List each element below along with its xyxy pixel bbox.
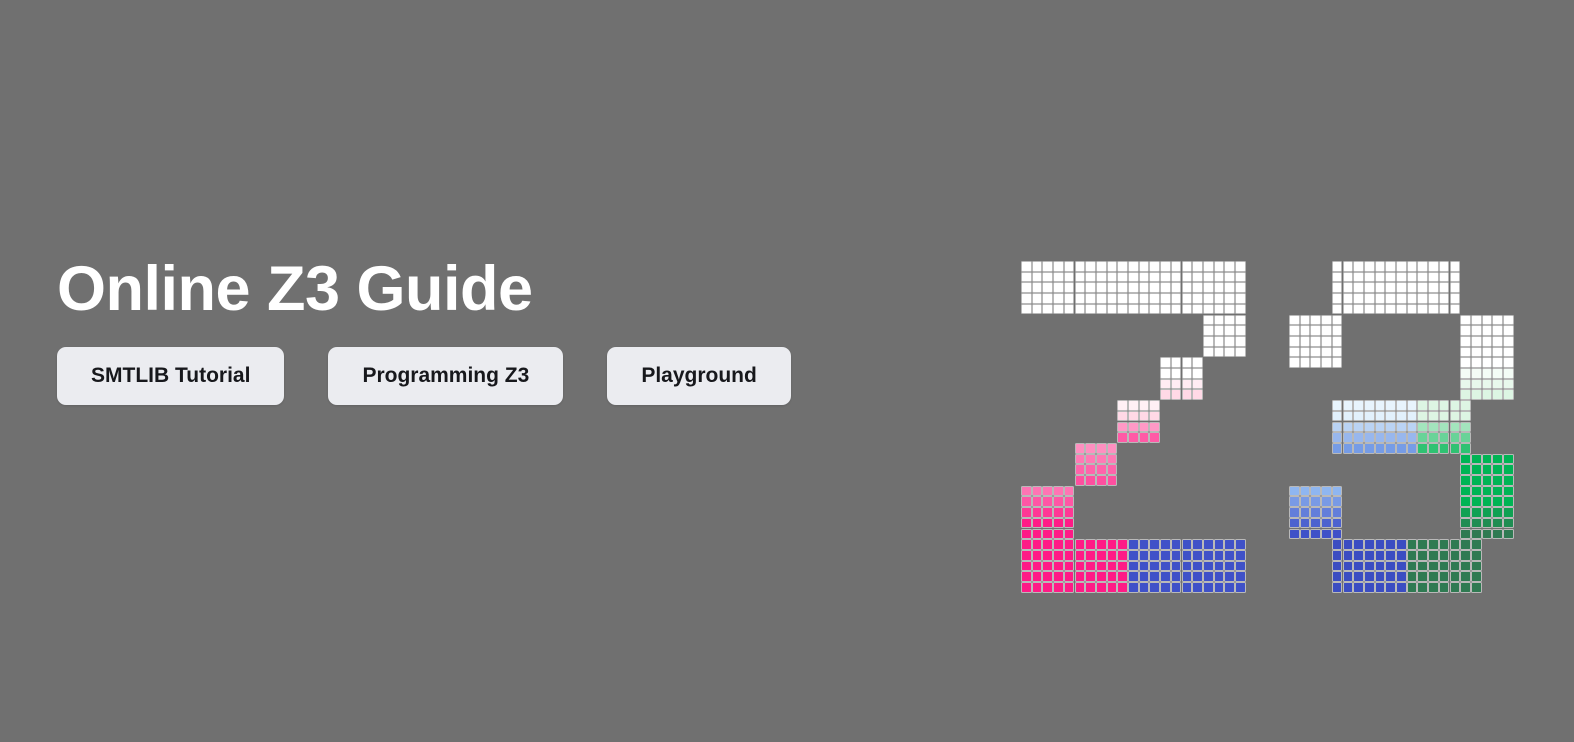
logo-pixel (1107, 293, 1118, 304)
logo-pixel (1332, 529, 1343, 540)
logo-pixel (1107, 539, 1118, 550)
logo-pixel (1492, 368, 1503, 379)
logo-pixel (1064, 496, 1075, 507)
logo-pixel (1364, 411, 1375, 422)
logo-pixel (1471, 389, 1482, 400)
logo-pixel (1353, 539, 1364, 550)
logo-pixel (1182, 389, 1193, 400)
logo-pixel (1482, 475, 1493, 486)
logo-pixel (1096, 443, 1107, 454)
logo-pixel (1471, 379, 1482, 390)
logo-pixel (1375, 293, 1386, 304)
logo-pixel (1235, 550, 1246, 561)
logo-pixel (1289, 529, 1300, 540)
logo-pixel (1053, 539, 1064, 550)
logo-pixel (1321, 529, 1332, 540)
logo-pixel (1471, 518, 1482, 529)
logo-pixel (1235, 272, 1246, 283)
logo-pixel (1310, 486, 1321, 497)
logo-pixel (1300, 325, 1311, 336)
logo-pixel (1032, 282, 1043, 293)
logo-pixel (1332, 325, 1343, 336)
cta-button-row: SMTLIB Tutorial Programming Z3 Playgroun… (57, 347, 957, 405)
logo-pixel (1428, 411, 1439, 422)
logo-pixel (1300, 347, 1311, 358)
logo-pixel (1439, 432, 1450, 443)
logo-pixel (1064, 539, 1075, 550)
logo-pixel (1364, 550, 1375, 561)
logo-pixel (1203, 347, 1214, 358)
logo-pixel (1214, 347, 1225, 358)
logo-pixel (1203, 261, 1214, 272)
logo-pixel (1117, 550, 1128, 561)
logo-pixel (1417, 261, 1428, 272)
logo-pixel (1107, 464, 1118, 475)
logo-pixel (1450, 272, 1461, 283)
logo-pixel (1085, 261, 1096, 272)
logo-pixel (1203, 315, 1214, 326)
logo-pixel (1042, 529, 1053, 540)
logo-pixel (1428, 261, 1439, 272)
logo-pixel (1460, 315, 1471, 326)
programming-z3-button[interactable]: Programming Z3 (328, 347, 563, 405)
logo-pixel (1450, 539, 1461, 550)
logo-pixel (1503, 336, 1514, 347)
logo-pixel (1021, 529, 1032, 540)
logo-pixel (1235, 582, 1246, 593)
logo-pixel (1203, 336, 1214, 347)
logo-pixel (1407, 539, 1418, 550)
logo-pixel (1503, 496, 1514, 507)
logo-pixel (1117, 539, 1128, 550)
logo-pixel (1075, 293, 1086, 304)
logo-pixel (1417, 571, 1428, 582)
logo-pixel (1343, 411, 1354, 422)
logo-pixel (1192, 379, 1203, 390)
logo-pixel (1482, 529, 1493, 540)
logo-pixel (1235, 571, 1246, 582)
logo-pixel (1396, 432, 1407, 443)
logo-pixel (1343, 400, 1354, 411)
logo-pixel (1085, 293, 1096, 304)
logo-pixel (1439, 582, 1450, 593)
logo-pixel (1032, 561, 1043, 572)
logo-pixel (1353, 261, 1364, 272)
logo-pixel (1353, 411, 1364, 422)
logo-pixel (1149, 293, 1160, 304)
logo-pixel (1353, 400, 1364, 411)
logo-pixel (1332, 486, 1343, 497)
logo-pixel (1117, 293, 1128, 304)
logo-pixel (1289, 325, 1300, 336)
logo-pixel (1224, 347, 1235, 358)
logo-pixel (1139, 571, 1150, 582)
logo-pixel (1224, 293, 1235, 304)
logo-pixel (1042, 496, 1053, 507)
logo-pixel (1471, 507, 1482, 518)
logo-pixel (1224, 315, 1235, 326)
logo-pixel (1128, 293, 1139, 304)
logo-pixel (1396, 582, 1407, 593)
logo-pixel (1096, 282, 1107, 293)
logo-pixel (1417, 282, 1428, 293)
smtlib-tutorial-button[interactable]: SMTLIB Tutorial (57, 347, 284, 405)
logo-pixel (1224, 550, 1235, 561)
logo-pixel (1192, 272, 1203, 283)
logo-pixel (1171, 293, 1182, 304)
logo-pixel (1332, 336, 1343, 347)
logo-pixel (1203, 272, 1214, 283)
logo-pixel (1214, 261, 1225, 272)
logo-pixel (1032, 529, 1043, 540)
logo-pixel (1053, 293, 1064, 304)
logo-pixel (1171, 550, 1182, 561)
logo-pixel (1192, 261, 1203, 272)
logo-pixel (1053, 507, 1064, 518)
logo-pixel (1364, 261, 1375, 272)
logo-pixel (1353, 293, 1364, 304)
logo-pixel (1128, 571, 1139, 582)
logo-pixel (1214, 571, 1225, 582)
logo-pixel (1310, 518, 1321, 529)
logo-pixel (1128, 411, 1139, 422)
logo-pixel (1482, 454, 1493, 465)
logo-pixel (1396, 561, 1407, 572)
logo-pixel (1042, 539, 1053, 550)
logo-pixel (1460, 389, 1471, 400)
logo-pixel (1171, 379, 1182, 390)
logo-pixel (1332, 293, 1343, 304)
logo-pixel (1224, 582, 1235, 593)
logo-pixel (1021, 518, 1032, 529)
logo-pixel (1482, 368, 1493, 379)
logo-pixel (1139, 304, 1150, 315)
logo-pixel (1375, 571, 1386, 582)
logo-pixel (1482, 325, 1493, 336)
logo-pixel (1332, 432, 1343, 443)
logo-pixel (1107, 272, 1118, 283)
logo-pixel (1407, 571, 1418, 582)
logo-pixel (1460, 529, 1471, 540)
logo-pixel (1396, 261, 1407, 272)
logo-pixel (1053, 496, 1064, 507)
logo-pixel (1117, 261, 1128, 272)
logo-pixel (1053, 272, 1064, 283)
logo-pixel (1439, 443, 1450, 454)
logo-pixel (1042, 293, 1053, 304)
logo-pixel (1450, 282, 1461, 293)
logo-pixel (1417, 400, 1428, 411)
logo-pixel (1439, 304, 1450, 315)
logo-pixel (1192, 282, 1203, 293)
logo-pixel (1149, 432, 1160, 443)
logo-pixel (1235, 282, 1246, 293)
logo-pixel (1224, 571, 1235, 582)
logo-pixel (1503, 325, 1514, 336)
page-title: Online Z3 Guide (57, 258, 957, 321)
logo-pixel (1214, 325, 1225, 336)
logo-pixel (1160, 550, 1171, 561)
logo-pixel (1503, 454, 1514, 465)
logo-pixel (1407, 443, 1418, 454)
logo-pixel (1375, 261, 1386, 272)
logo-pixel (1375, 411, 1386, 422)
logo-pixel (1353, 443, 1364, 454)
logo-pixel (1128, 550, 1139, 561)
logo-pixel (1085, 475, 1096, 486)
logo-pixel (1139, 582, 1150, 593)
logo-pixel (1343, 550, 1354, 561)
logo-pixel (1075, 550, 1086, 561)
logo-pixel (1235, 304, 1246, 315)
logo-pixel (1385, 443, 1396, 454)
logo-pixel (1171, 304, 1182, 315)
logo-pixel (1235, 325, 1246, 336)
logo-pixel (1032, 486, 1043, 497)
logo-pixel (1396, 411, 1407, 422)
logo-pixel (1182, 357, 1193, 368)
logo-pixel (1107, 304, 1118, 315)
logo-pixel (1385, 422, 1396, 433)
logo-pixel (1396, 304, 1407, 315)
logo-pixel (1171, 571, 1182, 582)
logo-pixel (1375, 422, 1386, 433)
logo-pixel (1417, 411, 1428, 422)
logo-pixel (1407, 432, 1418, 443)
logo-pixel (1064, 293, 1075, 304)
logo-pixel (1203, 571, 1214, 582)
logo-pixel (1385, 272, 1396, 283)
logo-pixel (1417, 432, 1428, 443)
logo-pixel (1396, 539, 1407, 550)
logo-pixel (1460, 379, 1471, 390)
logo-pixel (1428, 539, 1439, 550)
logo-pixel (1503, 389, 1514, 400)
logo-pixel (1364, 293, 1375, 304)
logo-pixel (1407, 272, 1418, 283)
logo-pixel (1128, 582, 1139, 593)
logo-pixel (1460, 507, 1471, 518)
logo-pixel (1085, 550, 1096, 561)
logo-pixel (1471, 561, 1482, 572)
logo-pixel (1460, 486, 1471, 497)
logo-pixel (1107, 443, 1118, 454)
logo-pixel (1107, 561, 1118, 572)
logo-pixel (1192, 368, 1203, 379)
logo-pixel (1450, 304, 1461, 315)
logo-pixel (1160, 261, 1171, 272)
logo-pixel (1021, 272, 1032, 283)
logo-pixel (1439, 539, 1450, 550)
logo-pixel (1032, 550, 1043, 561)
logo-pixel (1096, 475, 1107, 486)
logo-pixel (1460, 400, 1471, 411)
logo-pixel (1428, 571, 1439, 582)
logo-pixel (1021, 261, 1032, 272)
logo-pixel (1171, 561, 1182, 572)
logo-pixel (1503, 379, 1514, 390)
logo-pixel (1075, 539, 1086, 550)
logo-pixel (1492, 379, 1503, 390)
logo-pixel (1096, 261, 1107, 272)
logo-pixel (1471, 315, 1482, 326)
logo-pixel (1407, 304, 1418, 315)
logo-pixel (1224, 304, 1235, 315)
logo-pixel (1149, 539, 1160, 550)
logo-pixel (1332, 282, 1343, 293)
logo-pixel (1075, 475, 1086, 486)
logo-pixel (1128, 432, 1139, 443)
logo-pixel (1289, 315, 1300, 326)
logo-pixel (1075, 454, 1086, 465)
logo-pixel (1364, 539, 1375, 550)
hero-text-column: Online Z3 Guide SMTLIB Tutorial Programm… (57, 258, 957, 405)
logo-pixel (1439, 282, 1450, 293)
logo-pixel (1385, 571, 1396, 582)
logo-pixel (1085, 464, 1096, 475)
logo-pixel (1171, 539, 1182, 550)
logo-pixel (1182, 368, 1193, 379)
logo-pixel (1450, 411, 1461, 422)
logo-pixel (1235, 261, 1246, 272)
logo-pixel (1107, 582, 1118, 593)
logo-pixel (1460, 357, 1471, 368)
logo-pixel (1203, 282, 1214, 293)
logo-pixel (1471, 325, 1482, 336)
logo-pixel (1375, 400, 1386, 411)
logo-pixel (1343, 272, 1354, 283)
logo-pixel (1471, 454, 1482, 465)
logo-pixel (1310, 347, 1321, 358)
logo-pixel (1343, 561, 1354, 572)
logo-pixel (1289, 518, 1300, 529)
logo-pixel (1139, 282, 1150, 293)
logo-pixel (1332, 347, 1343, 358)
logo-pixel (1471, 336, 1482, 347)
logo-pixel (1471, 582, 1482, 593)
logo-pixel (1085, 282, 1096, 293)
logo-pixel (1192, 550, 1203, 561)
logo-pixel (1343, 432, 1354, 443)
logo-pixel (1343, 443, 1354, 454)
logo-pixel (1417, 443, 1428, 454)
logo-pixel (1450, 582, 1461, 593)
logo-pixel (1492, 357, 1503, 368)
logo-pixel (1021, 539, 1032, 550)
logo-pixel (1139, 432, 1150, 443)
logo-pixel (1032, 582, 1043, 593)
logo-pixel (1428, 272, 1439, 283)
logo-pixel (1450, 261, 1461, 272)
logo-pixel (1482, 315, 1493, 326)
logo-pixel (1032, 272, 1043, 283)
logo-pixel (1096, 304, 1107, 315)
logo-pixel (1343, 422, 1354, 433)
logo-pixel (1042, 518, 1053, 529)
logo-pixel (1353, 304, 1364, 315)
logo-pixel (1407, 261, 1418, 272)
logo-pixel (1214, 293, 1225, 304)
logo-pixel (1235, 539, 1246, 550)
logo-pixel (1053, 529, 1064, 540)
logo-pixel (1407, 400, 1418, 411)
logo-pixel (1364, 272, 1375, 283)
logo-pixel (1214, 336, 1225, 347)
logo-pixel (1332, 571, 1343, 582)
logo-pixel (1021, 507, 1032, 518)
logo-pixel (1375, 282, 1386, 293)
logo-pixel (1149, 411, 1160, 422)
logo-pixel (1450, 561, 1461, 572)
logo-pixel (1149, 304, 1160, 315)
logo-pixel (1492, 496, 1503, 507)
logo-pixel (1032, 304, 1043, 315)
logo-pixel (1396, 443, 1407, 454)
logo-pixel (1182, 571, 1193, 582)
logo-pixel (1042, 261, 1053, 272)
logo-pixel (1364, 582, 1375, 593)
logo-pixel (1492, 475, 1503, 486)
logo-pixel (1042, 282, 1053, 293)
logo-pixel (1428, 282, 1439, 293)
logo-pixel (1482, 347, 1493, 358)
logo-pixel (1460, 336, 1471, 347)
logo-pixel (1439, 293, 1450, 304)
logo-pixel (1428, 422, 1439, 433)
logo-pixel (1085, 571, 1096, 582)
logo-pixel (1482, 389, 1493, 400)
logo-pixel (1375, 550, 1386, 561)
logo-pixel (1385, 261, 1396, 272)
logo-pixel (1117, 582, 1128, 593)
logo-pixel (1321, 357, 1332, 368)
logo-pixel (1107, 475, 1118, 486)
logo-pixel (1128, 400, 1139, 411)
logo-pixel (1450, 293, 1461, 304)
logo-pixel (1428, 561, 1439, 572)
logo-pixel (1396, 293, 1407, 304)
logo-pixel (1128, 422, 1139, 433)
logo-pixel (1471, 368, 1482, 379)
logo-pixel (1492, 486, 1503, 497)
logo-pixel (1417, 272, 1428, 283)
logo-pixel (1064, 272, 1075, 283)
logo-pixel (1182, 539, 1193, 550)
hero-section: Online Z3 Guide SMTLIB Tutorial Programm… (0, 0, 1574, 742)
logo-pixel (1417, 561, 1428, 572)
logo-pixel (1332, 304, 1343, 315)
logo-pixel (1492, 315, 1503, 326)
logo-pixel (1492, 518, 1503, 529)
logo-pixel (1053, 550, 1064, 561)
logo-pixel (1353, 282, 1364, 293)
logo-pixel (1300, 336, 1311, 347)
logo-pixel (1460, 561, 1471, 572)
logo-pixel (1149, 282, 1160, 293)
logo-pixel (1332, 261, 1343, 272)
logo-pixel (1021, 293, 1032, 304)
logo-pixel (1310, 357, 1321, 368)
logo-pixel (1396, 422, 1407, 433)
logo-pixel (1214, 272, 1225, 283)
logo-pixel (1160, 561, 1171, 572)
playground-button[interactable]: Playground (607, 347, 791, 405)
logo-pixel (1192, 389, 1203, 400)
logo-pixel (1364, 432, 1375, 443)
logo-pixel (1375, 272, 1386, 283)
logo-pixel (1214, 582, 1225, 593)
logo-pixel (1460, 432, 1471, 443)
